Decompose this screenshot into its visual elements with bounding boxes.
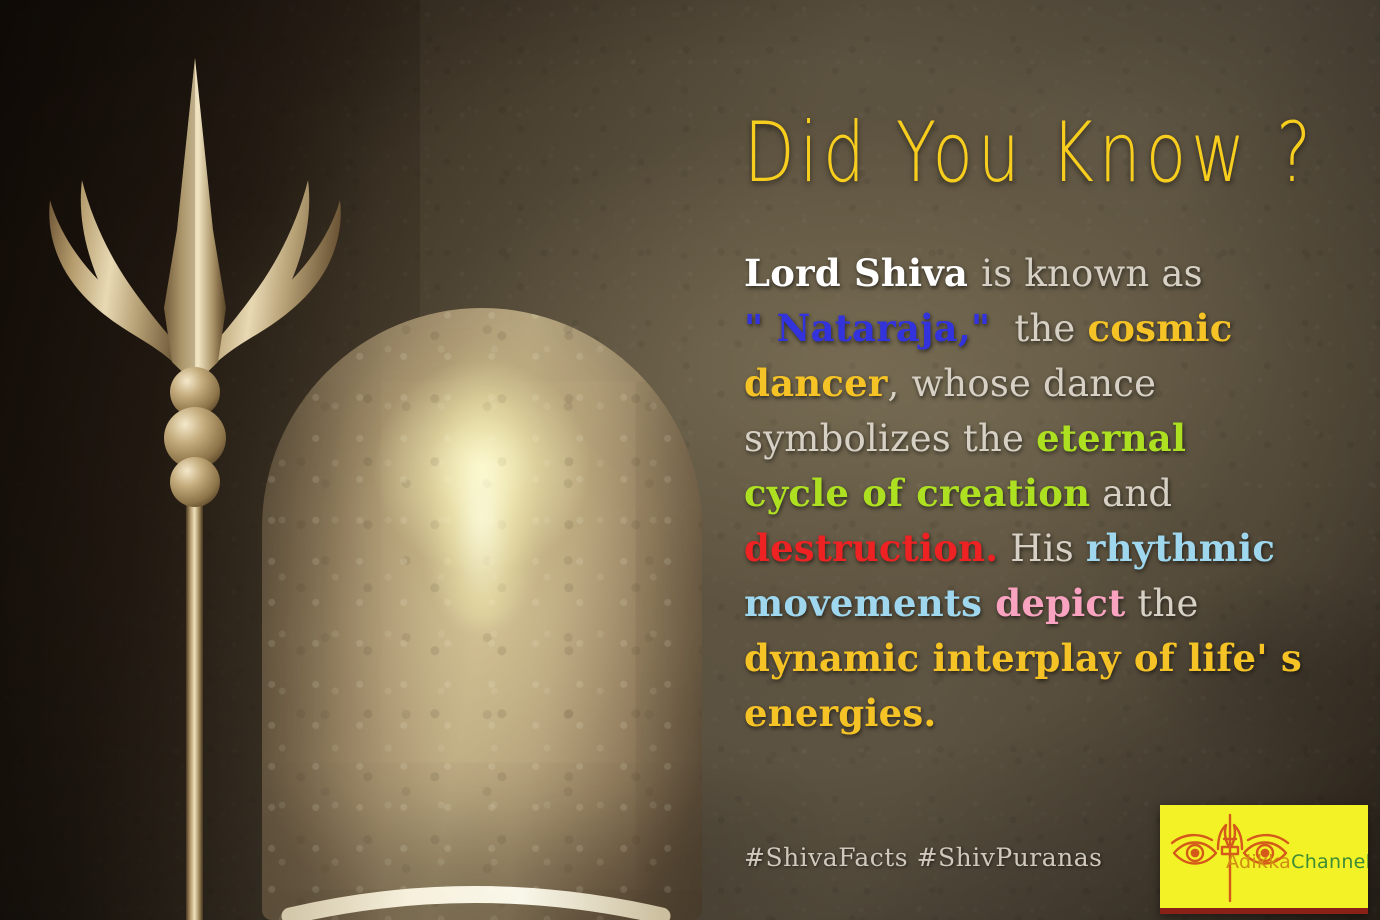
trishul-icon: [40, 40, 360, 920]
segment-depict: depict: [995, 581, 1125, 625]
hashtags: #ShivaFacts #ShivPuranas: [744, 843, 1102, 872]
content-column: Did You Know ? Lord Shiva is known as " …: [700, 0, 1360, 920]
poster-canvas: Did You Know ? Lord Shiva is known as " …: [0, 0, 1380, 920]
brand-badge[interactable]: AdikkaChannels: [1160, 805, 1368, 914]
segment-his: His: [998, 527, 1086, 570]
segment-and: and: [1090, 472, 1172, 515]
segment-the: the: [990, 307, 1087, 350]
page-title: Did You Know ?: [706, 112, 1354, 195]
brand-name-second: Channels: [1291, 851, 1368, 873]
fact-paragraph: Lord Shiva is known as " Nataraja," the …: [744, 246, 1364, 741]
segment-destruction: destruction.: [744, 526, 998, 570]
segment-nataraja: " Nataraja,": [744, 306, 990, 350]
segment-the-2: the: [1125, 582, 1198, 625]
brand-name: AdikkaChannels: [1226, 851, 1368, 873]
segment-is-known-as: is known as: [981, 252, 1203, 295]
brand-name-first: Adikka: [1226, 851, 1291, 873]
segment-lord-shiva: Lord Shiva: [744, 251, 981, 295]
segment-dynamic-interplay: dynamic interplay of life' s energies.: [744, 636, 1302, 735]
